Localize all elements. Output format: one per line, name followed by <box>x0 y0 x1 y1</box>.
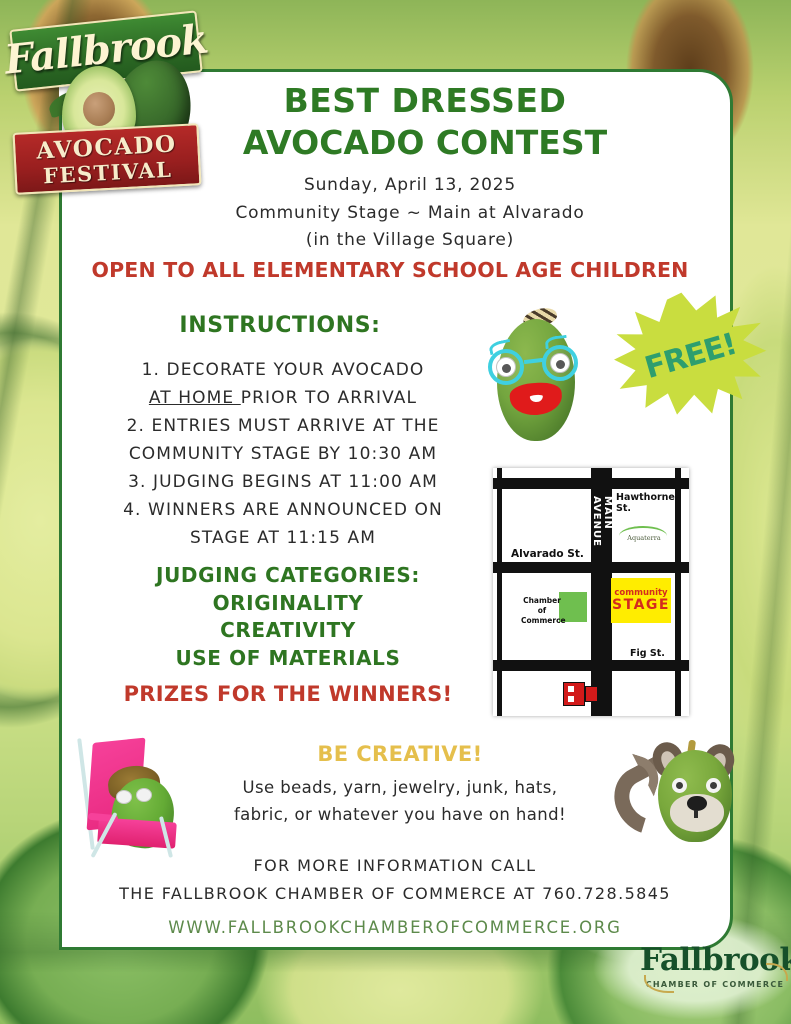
map-label-chamber: Chamber of Commerce <box>521 596 563 626</box>
categories-heading: JUDGING CATEGORIES: <box>93 562 483 590</box>
map-stage-label-small: community <box>614 589 667 598</box>
decorated-avocado-with-glasses <box>485 305 590 445</box>
chamber-of-commerce-logo: Fallbrook CHAMBER OF COMMERCE <box>640 945 790 1015</box>
prizes-line: PRIZES FOR THE WINNERS! <box>93 682 483 706</box>
dog-mouth-icon <box>694 810 698 818</box>
instructions-list: 1. DECORATE YOUR AVOCADO AT HOME PRIOR T… <box>88 356 478 552</box>
instruction-item: 2. ENTRIES MUST ARRIVE AT THE <box>88 412 478 440</box>
contact-line-2: THE FALLBROOK CHAMBER OF COMMERCE AT 760… <box>75 880 715 908</box>
eligibility-line: OPEN TO ALL ELEMENTARY SCHOOL AGE CHILDR… <box>90 258 690 282</box>
glasses-lens-right <box>542 345 578 381</box>
map-building-side-icon <box>585 686 598 702</box>
be-creative-heading: BE CREATIVE! <box>200 742 600 766</box>
map-community-stage-block: community STAGE <box>611 578 671 623</box>
judging-categories: JUDGING CATEGORIES: ORIGINALITY CREATIVI… <box>93 562 483 672</box>
avocado-in-beach-chair <box>72 738 196 864</box>
instruction-item: AT HOME PRIOR TO ARRIVAL <box>88 384 478 412</box>
map-restaurant-name: Aquaterra <box>623 534 665 542</box>
map-label-main-avenue: MAIN AVENUE <box>588 496 616 582</box>
red-banner: AVOCADO FESTIVAL <box>13 123 202 195</box>
map-label-alvarado: Alvarado St. <box>511 548 584 560</box>
instruction-item: STAGE AT 11:15 AM <box>88 524 478 552</box>
category-item-creativity: CREATIVITY <box>93 617 483 645</box>
map-label-fig: Fig St. <box>630 648 665 659</box>
title-line-2: AVOCADO CONTEST <box>190 122 660 164</box>
avocado-festival-logo: Fallbrook AVOCADO FESTIVAL <box>4 2 209 196</box>
location-map: MAIN AVENUE Alvarado St. Hawthorne St. F… <box>493 468 689 716</box>
instruction-item: 3. JUDGING BEGINS AT 11:00 AM <box>88 468 478 496</box>
instruction-item: 1. DECORATE YOUR AVOCADO <box>88 356 478 384</box>
googly-eye-left <box>116 790 132 804</box>
instruction-underlined-text: AT HOME <box>149 388 241 408</box>
dog-eye-left <box>672 778 687 793</box>
map-restaurant-logo: Aquaterra <box>619 526 669 554</box>
avocado-dog-character <box>616 736 744 854</box>
website-url[interactable]: WWW.FALLBROOKCHAMBEROFCOMMERCE.ORG <box>110 918 680 937</box>
festival-logo-line2: FESTIVAL <box>43 158 173 186</box>
instruction-item: COMMUNITY STAGE BY 10:30 AM <box>88 440 478 468</box>
be-creative-line-2: fabric, or whatever you have on hand! <box>170 802 630 829</box>
event-subtitle: Sunday, April 13, 2025 Community Stage ~… <box>150 172 670 255</box>
subtitle-date: Sunday, April 13, 2025 <box>150 172 670 200</box>
subtitle-location: Community Stage ~ Main at Alvarado <box>150 200 670 228</box>
map-building-icon <box>563 682 585 706</box>
instruction-item-rest: PRIOR TO ARRIVAL <box>241 388 417 408</box>
category-item-materials: USE OF MATERIALS <box>93 645 483 673</box>
title-line-1: BEST DRESSED <box>190 80 660 122</box>
subtitle-venue-note: (in the Village Square) <box>150 227 670 255</box>
googly-eye-right <box>136 788 152 802</box>
be-creative-body: Use beads, yarn, jewelry, junk, hats, fa… <box>170 775 630 828</box>
be-creative-line-1: Use beads, yarn, jewelry, junk, hats, <box>170 775 630 802</box>
instruction-item: 4. WINNERS ARE ANNOUNCED ON <box>88 496 478 524</box>
map-road-vertical-left <box>497 468 502 716</box>
page-title: BEST DRESSED AVOCADO CONTEST <box>190 80 660 163</box>
poster-flyer: Fallbrook AVOCADO FESTIVAL BEST DRESSED … <box>0 0 791 1024</box>
free-starburst-badge: FREE! <box>606 282 774 426</box>
logo-flourish-left-icon <box>644 975 674 993</box>
glasses-lens-left <box>488 349 524 385</box>
category-item-originality: ORIGINALITY <box>93 590 483 618</box>
map-stage-label-big: STAGE <box>612 598 670 612</box>
map-label-hawthorne: Hawthorne St. <box>616 492 689 514</box>
dog-nose-icon <box>687 796 707 811</box>
dog-eye-right <box>706 778 721 793</box>
instructions-heading: INSTRUCTIONS: <box>100 313 460 338</box>
avocado-pit-shape <box>83 92 115 126</box>
